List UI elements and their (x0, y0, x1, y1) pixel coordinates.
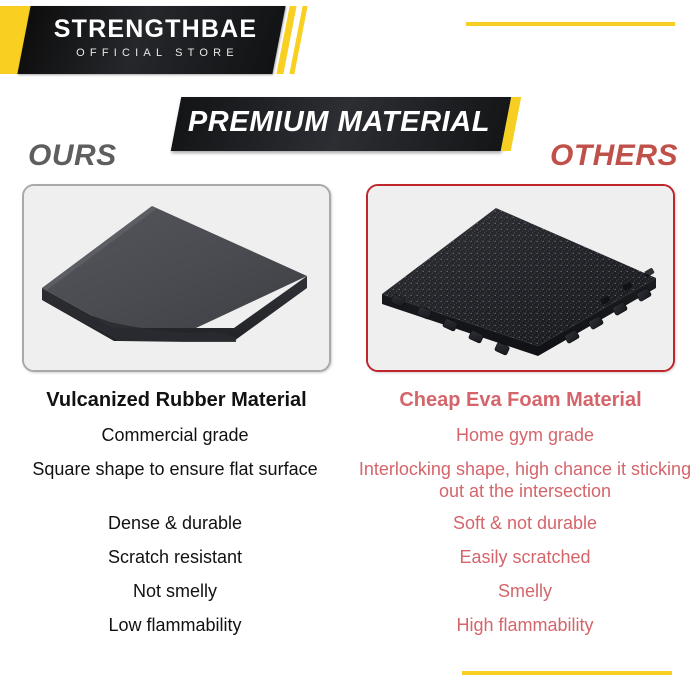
feature-cell-others: Smelly (350, 580, 700, 602)
feature-cell-ours: Low flammability (0, 614, 350, 636)
column-label-ours: OURS (28, 139, 117, 173)
feature-cell-others: Interlocking shape, high chance it stick… (350, 458, 700, 502)
feature-comparison-list: Commercial grade Home gym grade Square s… (0, 424, 700, 648)
rubber-tile-image (24, 186, 325, 366)
feature-cell-others: Home gym grade (350, 424, 700, 446)
product-image-panel-others (366, 184, 675, 372)
feature-row: Dense & durable Soft & not durable (0, 512, 700, 534)
feature-cell-ours: Scratch resistant (0, 546, 350, 568)
feature-cell-ours: Dense & durable (0, 512, 350, 534)
material-heading-others: Cheap Eva Foam Material (348, 389, 693, 412)
premium-material-banner: PREMIUM MATERIAL (176, 97, 526, 151)
accent-rule-top (466, 22, 675, 26)
feature-cell-others: Easily scratched (350, 546, 700, 568)
feature-cell-ours: Commercial grade (0, 424, 350, 446)
feature-row: Scratch resistant Easily scratched (0, 546, 700, 568)
brand-logo-banner: STRENGTHBAE OFFICIAL STORE (0, 6, 330, 74)
feature-row: Low flammability High flammability (0, 614, 700, 636)
feature-row: Commercial grade Home gym grade (0, 424, 700, 446)
feature-row: Square shape to ensure flat surface Inte… (0, 458, 700, 502)
product-image-panel-ours (22, 184, 331, 372)
accent-rule-bottom (462, 671, 672, 675)
foam-puzzle-mat-image (368, 186, 669, 366)
premium-banner-title: PREMIUM MATERIAL (176, 106, 502, 139)
column-label-others: OTHERS (550, 139, 678, 173)
brand-name: STRENGTHBAE (48, 15, 263, 43)
logo-text-wrap: STRENGTHBAE OFFICIAL STORE (48, 15, 263, 61)
feature-cell-ours: Not smelly (0, 580, 350, 602)
brand-subtitle: OFFICIAL STORE (48, 45, 263, 61)
feature-cell-ours: Square shape to ensure flat surface (0, 458, 350, 480)
feature-cell-others: High flammability (350, 614, 700, 636)
material-heading-ours: Vulcanized Rubber Material (4, 389, 349, 412)
feature-row: Not smelly Smelly (0, 580, 700, 602)
feature-cell-others: Soft & not durable (350, 512, 700, 534)
